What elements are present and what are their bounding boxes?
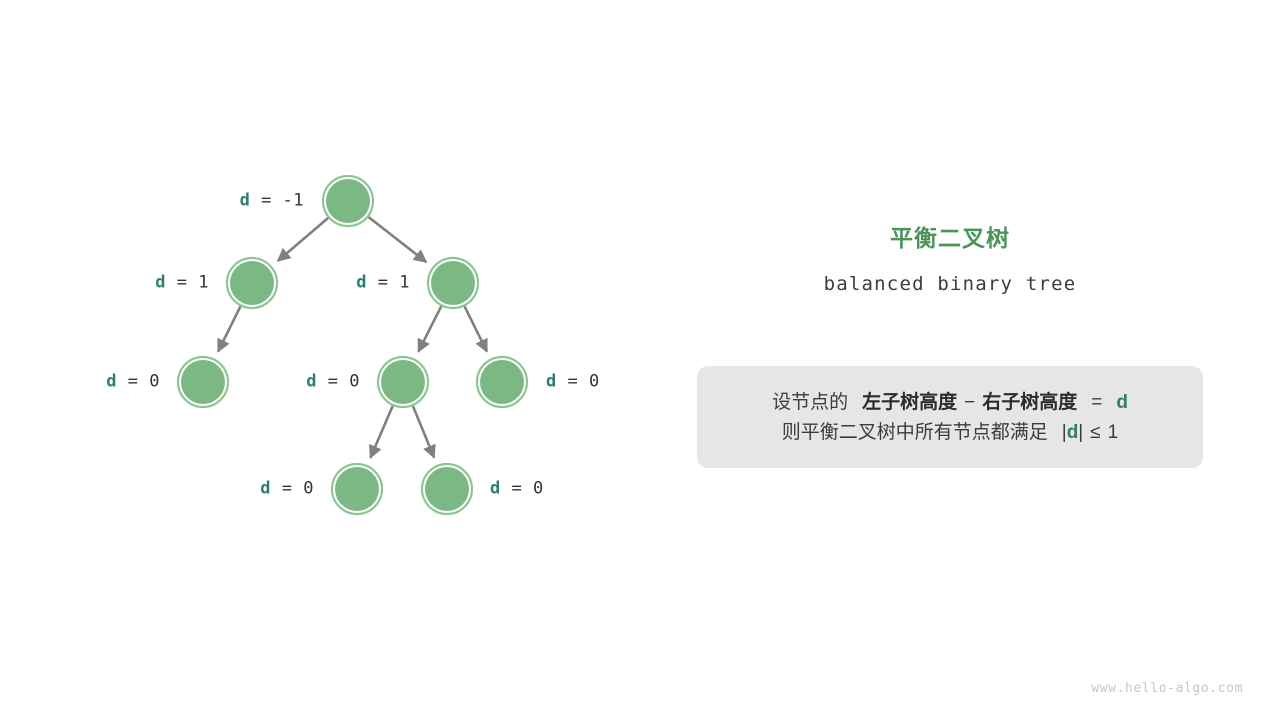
equals-sign: = — [1091, 392, 1102, 413]
tree-node[interactable] — [323, 176, 373, 226]
node-balance-label: d = -1 — [240, 193, 304, 210]
page-title: 平衡二叉树 — [697, 225, 1203, 253]
balance-value: = 0 — [501, 479, 544, 499]
tree-node[interactable] — [477, 357, 527, 407]
condition-prefix: 则平衡二叉树中所有节点都满足 — [782, 422, 1048, 443]
balance-variable: d — [106, 372, 117, 392]
tree-node[interactable] — [378, 357, 428, 407]
balance-variable: d — [240, 191, 251, 211]
tree-node[interactable] — [332, 464, 382, 514]
tree-edge — [465, 306, 487, 351]
balance-variable: d — [260, 479, 271, 499]
tree-edge — [418, 306, 441, 351]
node-disc — [335, 467, 379, 511]
tree-edge — [278, 218, 328, 261]
tree-edge — [368, 217, 426, 262]
node-balance-label: d = 0 — [106, 374, 160, 391]
definition-box: 设节点的左子树高度−右子树高度=d 则平衡二叉树中所有节点都满足|d|≤1 — [697, 366, 1203, 468]
node-disc — [326, 179, 370, 223]
info-panel: 平衡二叉树 balanced binary tree 设节点的左子树高度−右子树… — [697, 225, 1203, 295]
site-watermark: www.hello-algo.com — [1091, 681, 1243, 696]
balance-value: = 1 — [166, 273, 209, 293]
node-balance-label: d = 1 — [356, 275, 410, 292]
node-disc — [181, 360, 225, 404]
balance-value: = 1 — [367, 273, 410, 293]
node-disc — [230, 261, 274, 305]
node-disc — [480, 360, 524, 404]
definition-line-1: 设节点的左子树高度−右子树高度=d — [697, 388, 1203, 418]
balance-value: = -1 — [250, 191, 304, 211]
tree-nodes — [178, 176, 527, 514]
node-disc — [381, 360, 425, 404]
tree-node[interactable] — [227, 258, 277, 308]
relation-sign: ≤ — [1090, 422, 1100, 443]
minus-sign: − — [964, 392, 975, 413]
node-balance-label: d = 0 — [546, 374, 600, 391]
tree-node[interactable] — [428, 258, 478, 308]
bound-value: 1 — [1108, 422, 1119, 443]
node-balance-label: d = 1 — [155, 275, 209, 292]
balance-value: = 0 — [557, 372, 600, 392]
balance-variable: d — [306, 372, 317, 392]
page-subtitle: balanced binary tree — [697, 273, 1203, 295]
balance-value: = 0 — [271, 479, 314, 499]
tree-edge — [370, 406, 392, 458]
variable-d-abs: d — [1067, 422, 1079, 443]
right-subtree-height-term: 右子树高度 — [982, 392, 1077, 413]
balance-variable: d — [356, 273, 367, 293]
variable-d: d — [1116, 392, 1128, 413]
definition-line-2: 则平衡二叉树中所有节点都满足|d|≤1 — [697, 418, 1203, 448]
tree-edge — [413, 406, 434, 458]
node-balance-label: d = 0 — [490, 481, 544, 498]
node-balance-label: d = 0 — [306, 374, 360, 391]
node-disc — [431, 261, 475, 305]
tree-edge — [218, 306, 240, 351]
abs-bar-right: | — [1078, 422, 1083, 443]
tree-edges — [218, 217, 487, 458]
node-balance-label: d = 0 — [260, 481, 314, 498]
balance-variable: d — [155, 273, 166, 293]
balance-variable: d — [490, 479, 501, 499]
node-disc — [425, 467, 469, 511]
definition-prefix: 设节点的 — [772, 392, 848, 413]
binary-tree-graphic — [0, 0, 1280, 720]
tree-node[interactable] — [178, 357, 228, 407]
balance-variable: d — [546, 372, 557, 392]
tree-node[interactable] — [422, 464, 472, 514]
diagram-canvas: d = -1d = 1d = 1d = 0d = 0d = 0d = 0d = … — [0, 0, 1280, 720]
balance-value: = 0 — [117, 372, 160, 392]
balance-value: = 0 — [317, 372, 360, 392]
left-subtree-height-term: 左子树高度 — [862, 392, 957, 413]
